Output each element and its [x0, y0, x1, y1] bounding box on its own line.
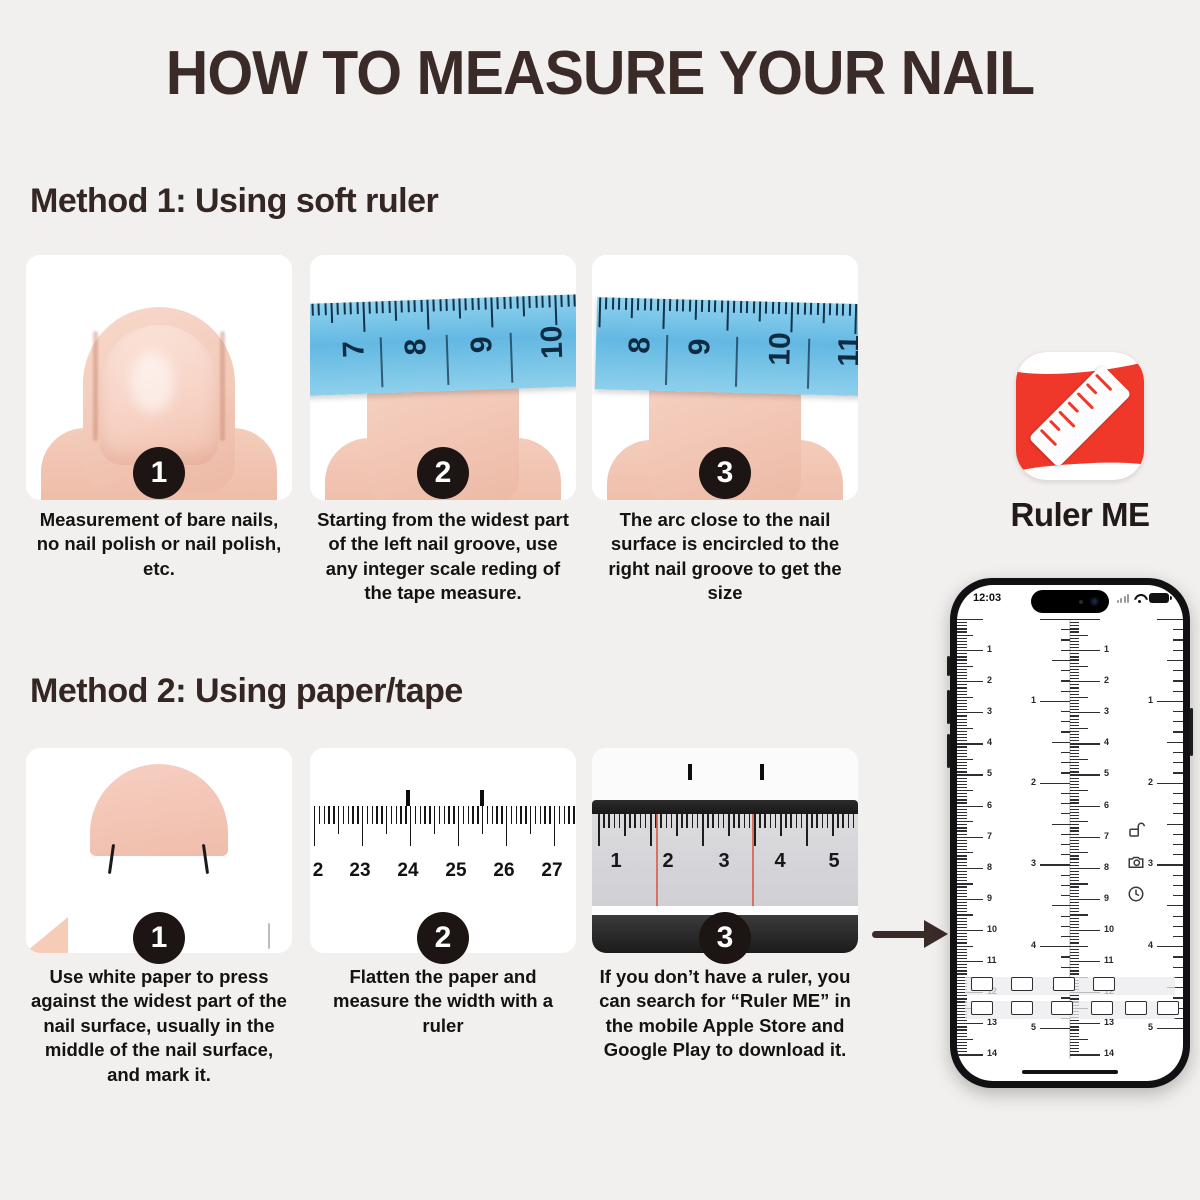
ruler-app-icon[interactable]	[1016, 352, 1144, 480]
step-badge-2-2: 2	[417, 912, 469, 964]
infographic-page: HOW TO MEASURE YOUR NAIL Method 1: Using…	[0, 0, 1200, 1200]
unlock-icon[interactable]	[1127, 821, 1145, 839]
page-title: HOW TO MEASURE YOUR NAIL	[30, 38, 1170, 109]
step-badge-1-3: 3	[699, 447, 751, 499]
wifi-icon	[1133, 594, 1145, 603]
camera-icon[interactable]	[1127, 853, 1145, 871]
home-indicator	[1022, 1070, 1118, 1074]
step-badge-2-1: 1	[133, 912, 185, 964]
step-badge-1-2: 2	[417, 447, 469, 499]
phone-screen: 12:03 1234567891011121314 12345678910111…	[957, 585, 1183, 1081]
step-caption-2-1: Use white paper to press against the wid…	[26, 965, 292, 1087]
phone-mockup: 12:03 1234567891011121314 12345678910111…	[950, 578, 1190, 1088]
step-badge-2-3: 3	[699, 912, 751, 964]
step-caption-1-2: Starting from the widest part of the lef…	[310, 508, 576, 606]
cellular-signal-icon	[1117, 594, 1130, 603]
method-2-heading: Method 2: Using paper/tape	[30, 672, 463, 711]
step-caption-1-1: Measurement of bare nails, no nail polis…	[26, 508, 292, 581]
step-caption-2-2: Flatten the paper and measure the width …	[310, 965, 576, 1038]
status-time: 12:03	[973, 592, 1001, 604]
status-bar: 12:03	[957, 585, 1183, 615]
app-tool-icons	[1127, 821, 1149, 917]
battery-icon	[1149, 593, 1169, 603]
method-1-heading: Method 1: Using soft ruler	[30, 182, 438, 221]
step-badge-1-1: 1	[133, 447, 185, 499]
dynamic-island	[1031, 590, 1109, 613]
step-caption-1-3: The arc close to the nail surface is enc…	[592, 508, 858, 606]
nail-size-chips	[965, 977, 1175, 1023]
history-icon[interactable]	[1127, 885, 1145, 903]
brand-block: Ruler ME	[990, 352, 1170, 534]
brand-name: Ruler ME	[990, 496, 1170, 534]
step-caption-2-3: If you don’t have a ruler, you can searc…	[592, 965, 858, 1063]
